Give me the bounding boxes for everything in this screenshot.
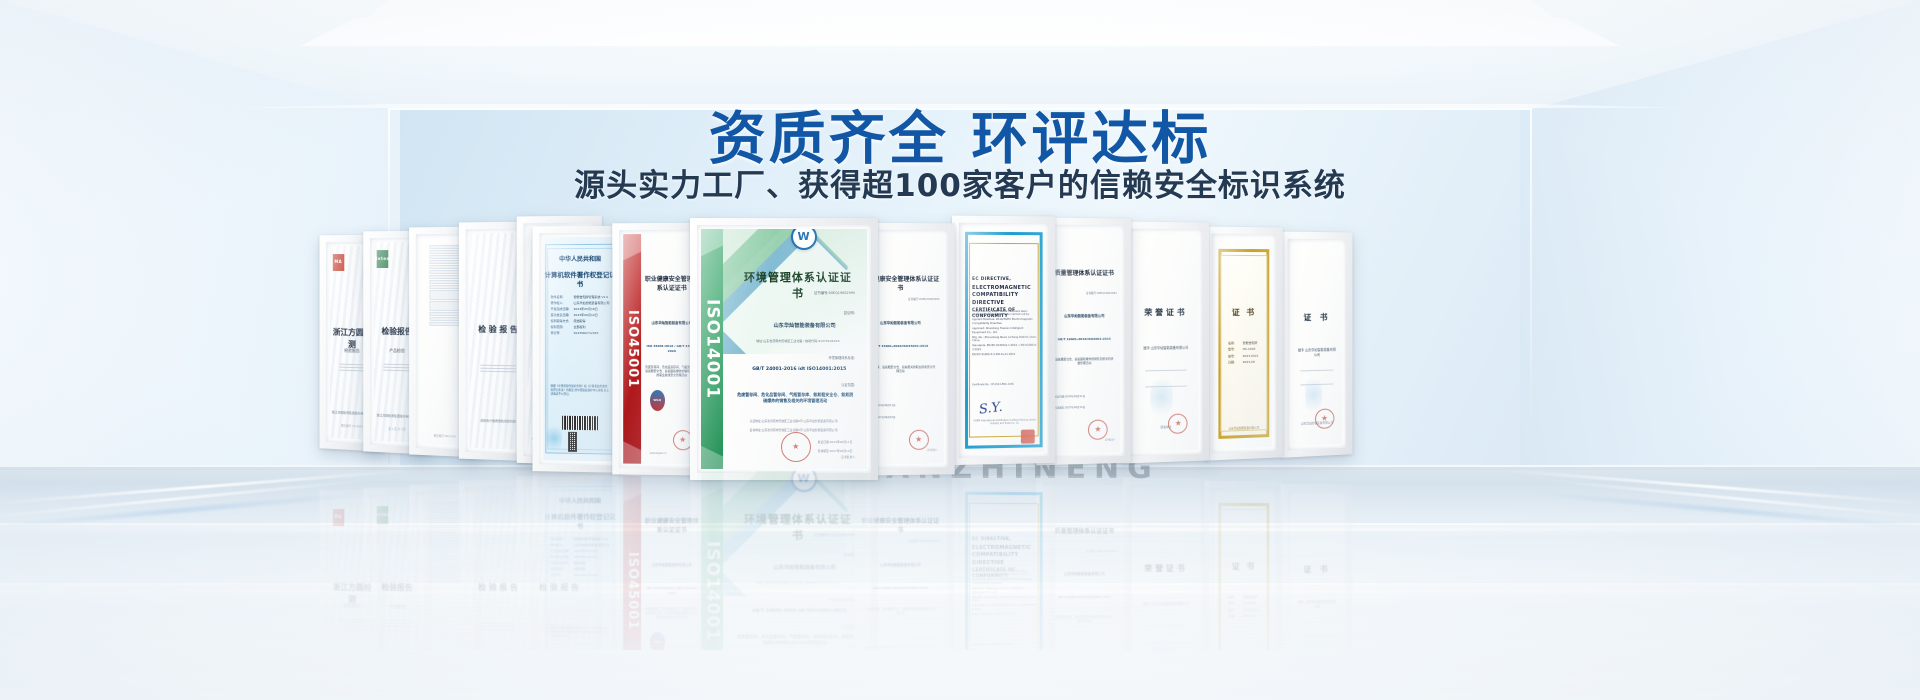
certificate-frame[interactable]: 证 书 名称: 智能告知牌 型号: HC-1000 编号: 2023-0521 … [1205, 227, 1283, 461]
certificate-paper: 中华人民共和国 计算机软件著作权登记证书 软件名称: 智能告知牌管理系统 V1.… [543, 237, 617, 462]
iso-spine: ISO45001 [623, 234, 641, 464]
certificate-mat: ISO14001 W 环境管理体系认证证书 证书编号:00EQ19002995 … [697, 225, 871, 473]
certificate-gallery: MA 浙江方圆检测 检验报告 浙江方圆检测集团股份有限公司 报告编号:YQ-20… [0, 220, 1920, 480]
ceiling-light-glow [420, 2, 1500, 36]
certificate-frame[interactable]: 证 书 授予 山东华灿智能装备有限公司 山东华灿智能装备有限公司 [1281, 232, 1353, 458]
certificate-frame[interactable]: 荣誉证书 授予 山东华灿智能装备有限公司 颁发单位 [1122, 221, 1209, 463]
banner-stage: 资质齐全 环评达标 源头实力工厂、获得超100家客户的信赖安全标识系统 MA 浙… [0, 0, 1920, 700]
certificate-mat: 中华人民共和国 计算机软件著作权登记证书 软件名称: 智能告知牌管理系统 V1.… [539, 233, 621, 466]
iso-spine: ISO14001 [701, 229, 723, 469]
certificate-paper: 质量管理体系认证证书 证书编号:00EQ19002994 山东华灿智能装备有限公… [1047, 229, 1120, 454]
certificate-paper: EC DIRECTIVE,ELECTROMAGNETIC COMPATIBILI… [963, 227, 1045, 454]
certificate-paper: ISO14001 W 环境管理体系认证证书 证书编号:00EQ19002995 … [701, 229, 867, 469]
certificate-frame[interactable]: ISO14001 W 环境管理体系认证证书 证书编号:00EQ19002995 … [690, 218, 878, 480]
page-subtitle: 源头实力工厂、获得超100家客户的信赖安全标识系统 [0, 160, 1920, 205]
certificate-frame[interactable]: EC DIRECTIVE,ELECTROMAGNETIC COMPATIBILI… [952, 216, 1055, 466]
certificate-paper: 证 书 授予 山东华灿智能装备有限公司 山东华灿智能装备有限公司 [1292, 243, 1342, 446]
certificate-mat: 荣誉证书 授予 山东华灿智能装备有限公司 颁发单位 [1129, 229, 1202, 457]
certificate-paper: 荣誉证书 授予 山东华灿智能装备有限公司 颁发单位 [1133, 233, 1198, 452]
certificate-mat: EC DIRECTIVE,ELECTROMAGNETIC COMPATIBILI… [959, 223, 1049, 458]
certificate-paper: 证 书 名称: 智能告知牌 型号: HC-1000 编号: 2023-0521 … [1215, 238, 1272, 449]
certificate-mat: 证 书 名称: 智能告知牌 型号: HC-1000 编号: 2023-0521 … [1211, 234, 1276, 454]
certificate-mat: 证 书 授予 山东华灿智能装备有限公司 山东华灿智能装备有限公司 [1288, 239, 1346, 451]
